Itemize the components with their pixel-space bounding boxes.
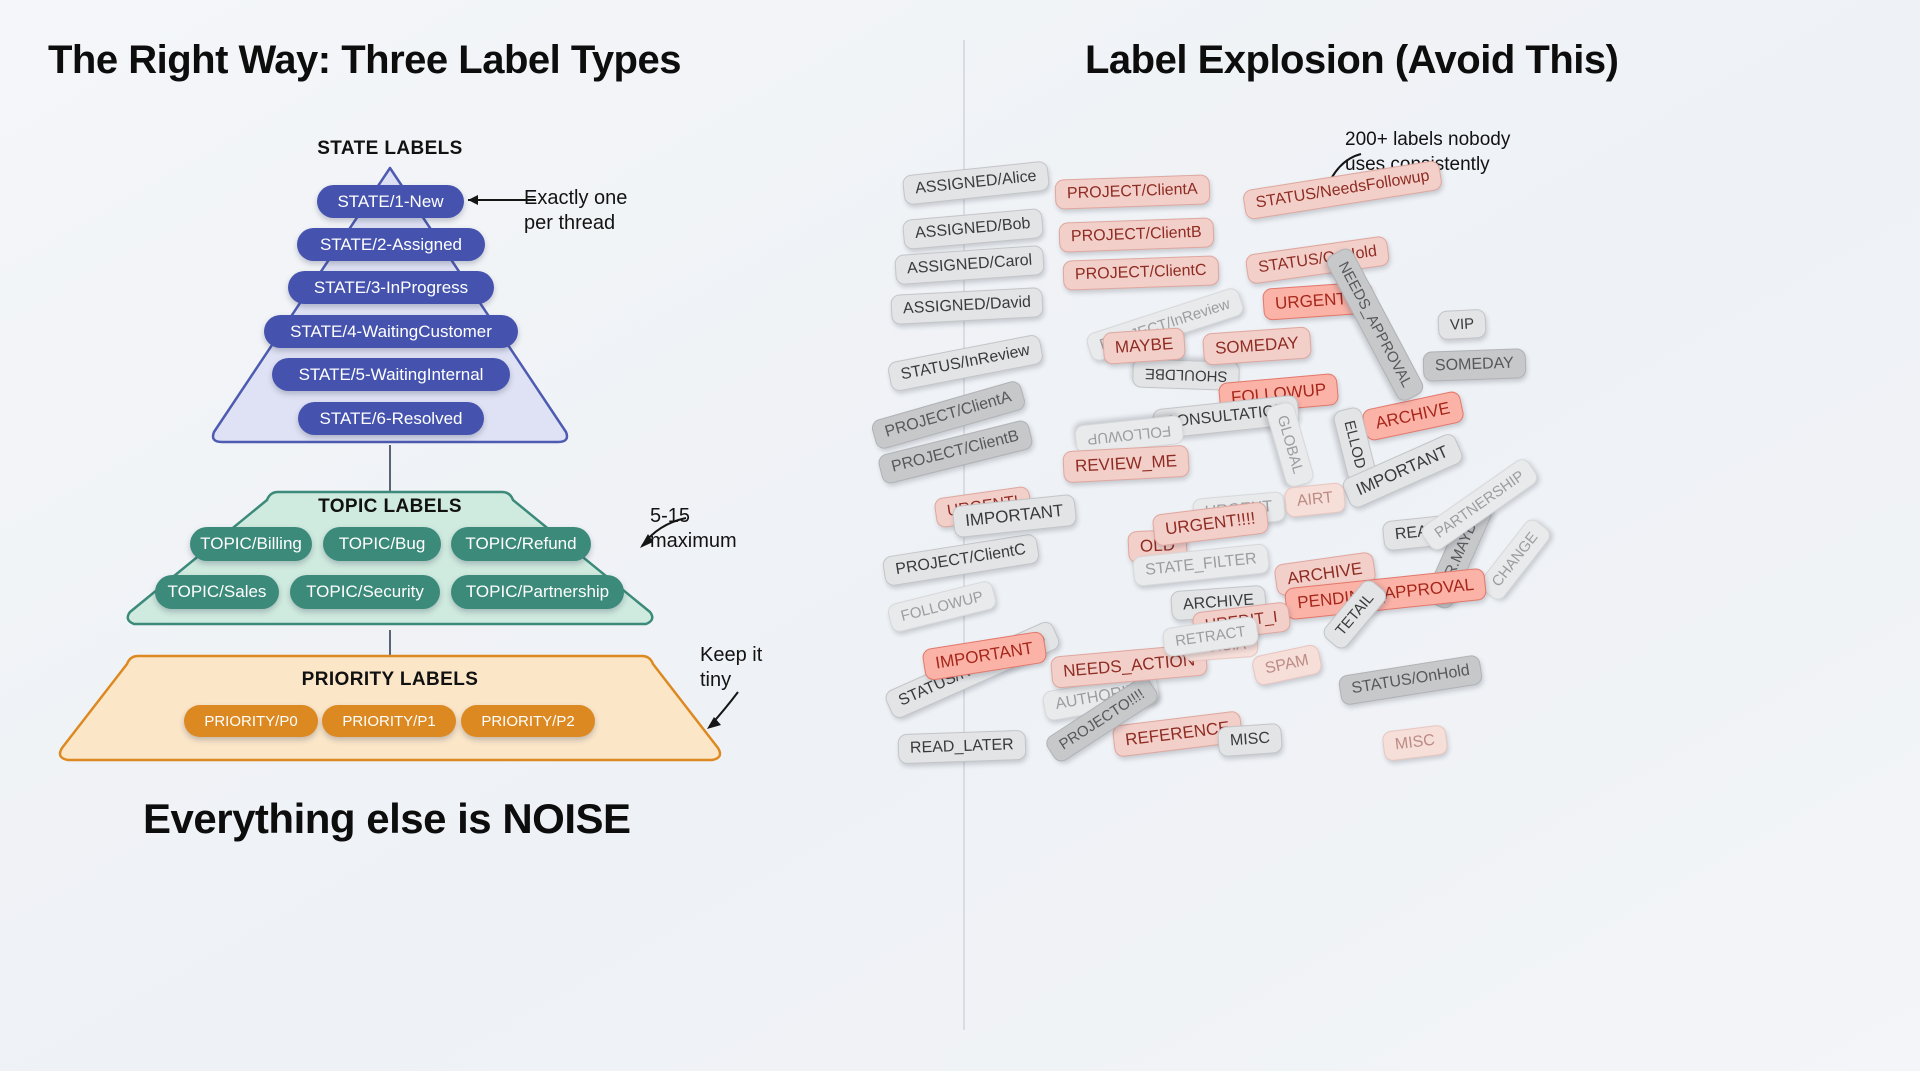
- state-chip-0[interactable]: STATE/1-New: [317, 185, 464, 218]
- priority-chip-0[interactable]: PRIORITY/P0: [184, 705, 318, 737]
- priority-chip-2[interactable]: PRIORITY/P2: [461, 705, 595, 737]
- chaos-label[interactable]: SOMEDAY: [1423, 348, 1527, 382]
- infographic-page: The Right Way: Three Label Types STATE L…: [0, 0, 1920, 1071]
- priority-chip-1[interactable]: PRIORITY/P1: [322, 705, 456, 737]
- state-callout-line1: Exactly one: [524, 186, 627, 211]
- state-chip-5[interactable]: STATE/6-Resolved: [298, 402, 484, 435]
- state-chip-1[interactable]: STATE/2-Assigned: [297, 228, 485, 261]
- topic-chip-5[interactable]: TOPIC/Partnership: [451, 575, 624, 609]
- topic-callout: 5-15 maximum: [650, 504, 737, 554]
- state-chip-4[interactable]: STATE/5-WaitingInternal: [272, 358, 510, 391]
- left-panel-footer: Everything else is NOISE: [143, 795, 631, 843]
- topic-callout-line2: maximum: [650, 529, 737, 554]
- chaos-label[interactable]: GLOBAL: [1264, 400, 1315, 489]
- state-chip-2[interactable]: STATE/3-InProgress: [288, 271, 494, 304]
- topic-chip-4[interactable]: TOPIC/Security: [290, 575, 440, 609]
- priority-tier-heading: PRIORITY LABELS: [0, 669, 780, 691]
- chaos-label[interactable]: NEEDS_APPROVAL: [1324, 245, 1427, 403]
- priority-callout-line1: Keep it: [700, 643, 762, 668]
- state-callout: Exactly one per thread: [524, 186, 627, 236]
- chaos-label[interactable]: REVIEW_ME: [1062, 445, 1190, 483]
- chaos-label[interactable]: VIP: [1437, 309, 1487, 341]
- topic-chip-3[interactable]: TOPIC/Sales: [155, 575, 279, 609]
- chaos-label[interactable]: READ_LATER: [898, 730, 1027, 765]
- topic-chip-1[interactable]: TOPIC/Bug: [323, 527, 441, 561]
- state-chip-3[interactable]: STATE/4-WaitingCustomer: [264, 315, 518, 348]
- chaos-label[interactable]: SOMEDAY: [1202, 326, 1312, 365]
- chaos-label[interactable]: MISC: [1381, 724, 1448, 762]
- chaos-label[interactable]: PROJECT/ClientA: [1055, 174, 1211, 210]
- left-panel: The Right Way: Three Label Types STATE L…: [0, 0, 963, 1071]
- left-panel-title: The Right Way: Three Label Types: [48, 38, 681, 83]
- right-panel: Label Explosion (Avoid This) 200+ labels…: [963, 0, 1920, 1071]
- explosion-annotation-line1: 200+ labels nobody: [1345, 128, 1510, 153]
- chaos-label[interactable]: PROJECT/ClientB: [1059, 217, 1215, 253]
- chaos-label[interactable]: MAYBE: [1102, 327, 1186, 364]
- chaos-label[interactable]: CHANGE: [1476, 516, 1553, 604]
- state-tier-heading: STATE LABELS: [0, 138, 780, 160]
- chaos-label[interactable]: MISC: [1217, 723, 1283, 758]
- chaos-label[interactable]: STATUS/OnHold: [1338, 654, 1484, 706]
- topic-callout-line1: 5-15: [650, 504, 737, 529]
- chaos-label[interactable]: STATUS/OnHold: [1245, 235, 1391, 285]
- priority-callout-arrow-icon: [690, 690, 760, 738]
- topic-chip-0[interactable]: TOPIC/Billing: [190, 527, 312, 561]
- chaos-label[interactable]: URGENT!!!!: [1152, 501, 1270, 546]
- chaos-label[interactable]: SPAM: [1251, 643, 1324, 687]
- chaos-label[interactable]: PROJECT/ClientC: [1063, 255, 1220, 291]
- chaos-label[interactable]: AIRT: [1284, 482, 1347, 519]
- chaos-label[interactable]: ASSIGNED/David: [890, 287, 1043, 325]
- right-panel-title: Label Explosion (Avoid This): [1085, 38, 1618, 83]
- state-callout-line2: per thread: [524, 211, 627, 236]
- priority-callout: Keep it tiny: [700, 643, 762, 693]
- topic-chip-2[interactable]: TOPIC/Refund: [451, 527, 591, 561]
- priority-callout-line2: tiny: [700, 668, 762, 693]
- connector-state-topic: [389, 445, 391, 492]
